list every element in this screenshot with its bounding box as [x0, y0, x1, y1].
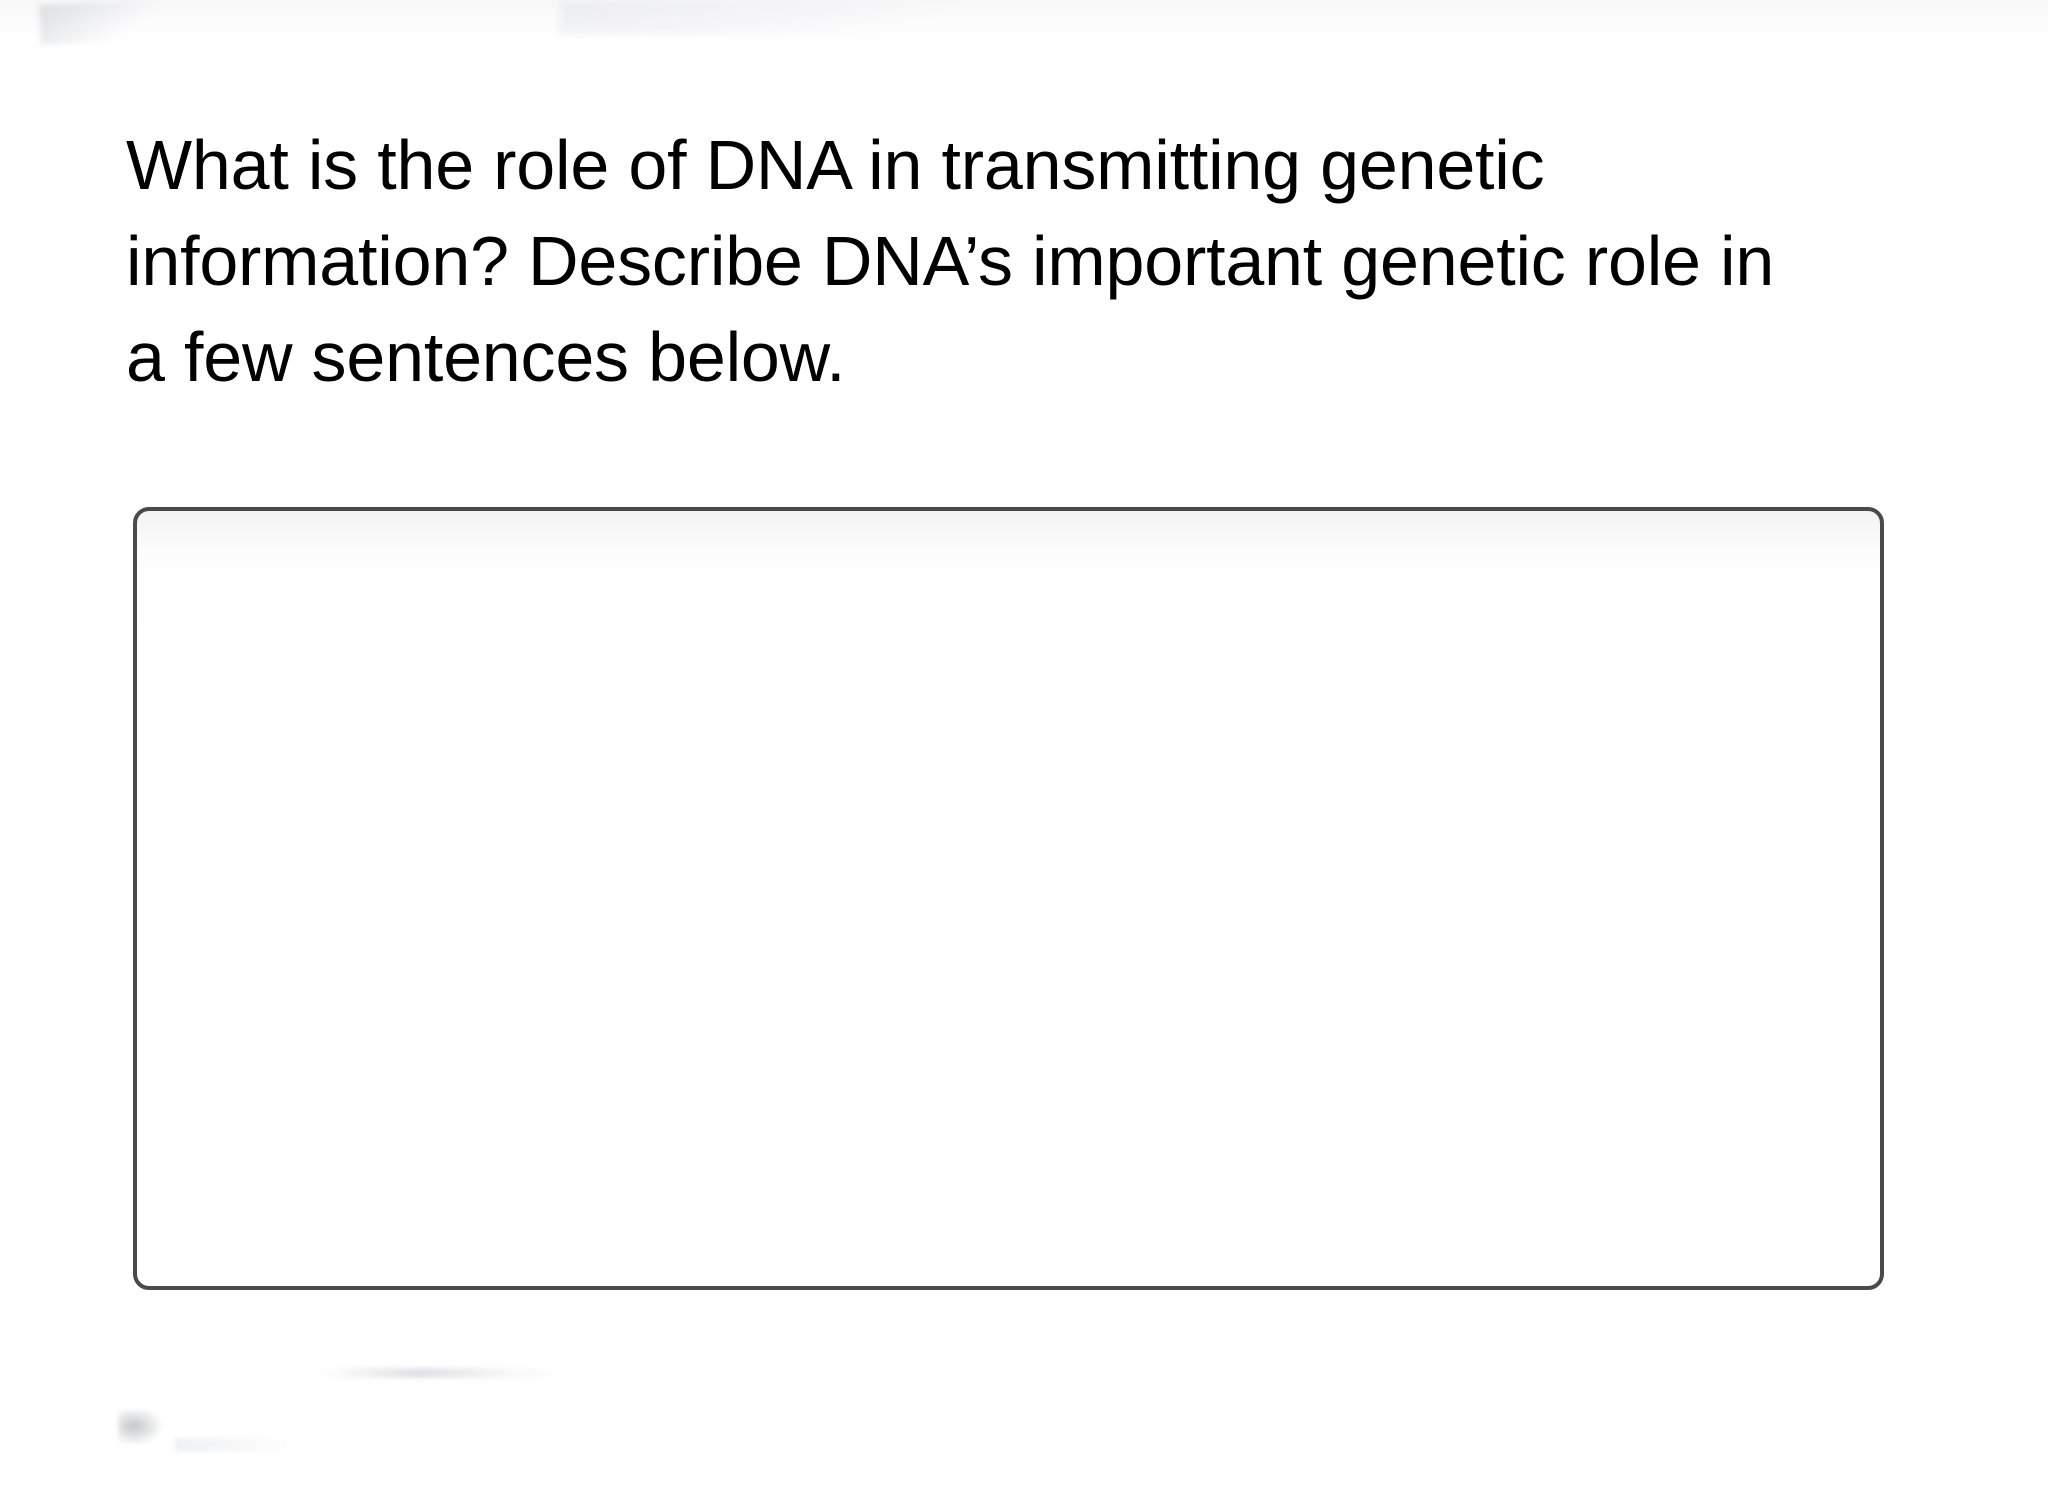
scan-artifact-bottom-line [320, 1368, 570, 1378]
scan-artifact-top-streak-secondary [560, 0, 980, 34]
question-prompt-text: What is the role of DNA in transmitting … [126, 117, 1806, 405]
scan-artifact-bottom-faint [175, 1438, 295, 1452]
answer-textarea[interactable] [137, 511, 1880, 1286]
worksheet-page: What is the role of DNA in transmitting … [0, 0, 2048, 1498]
answer-response-box[interactable] [133, 507, 1884, 1290]
scan-artifact-bottom-smudge [118, 1410, 164, 1446]
scan-artifact-top-band [0, 0, 2048, 46]
scan-artifact-top-streak [39, 0, 161, 45]
